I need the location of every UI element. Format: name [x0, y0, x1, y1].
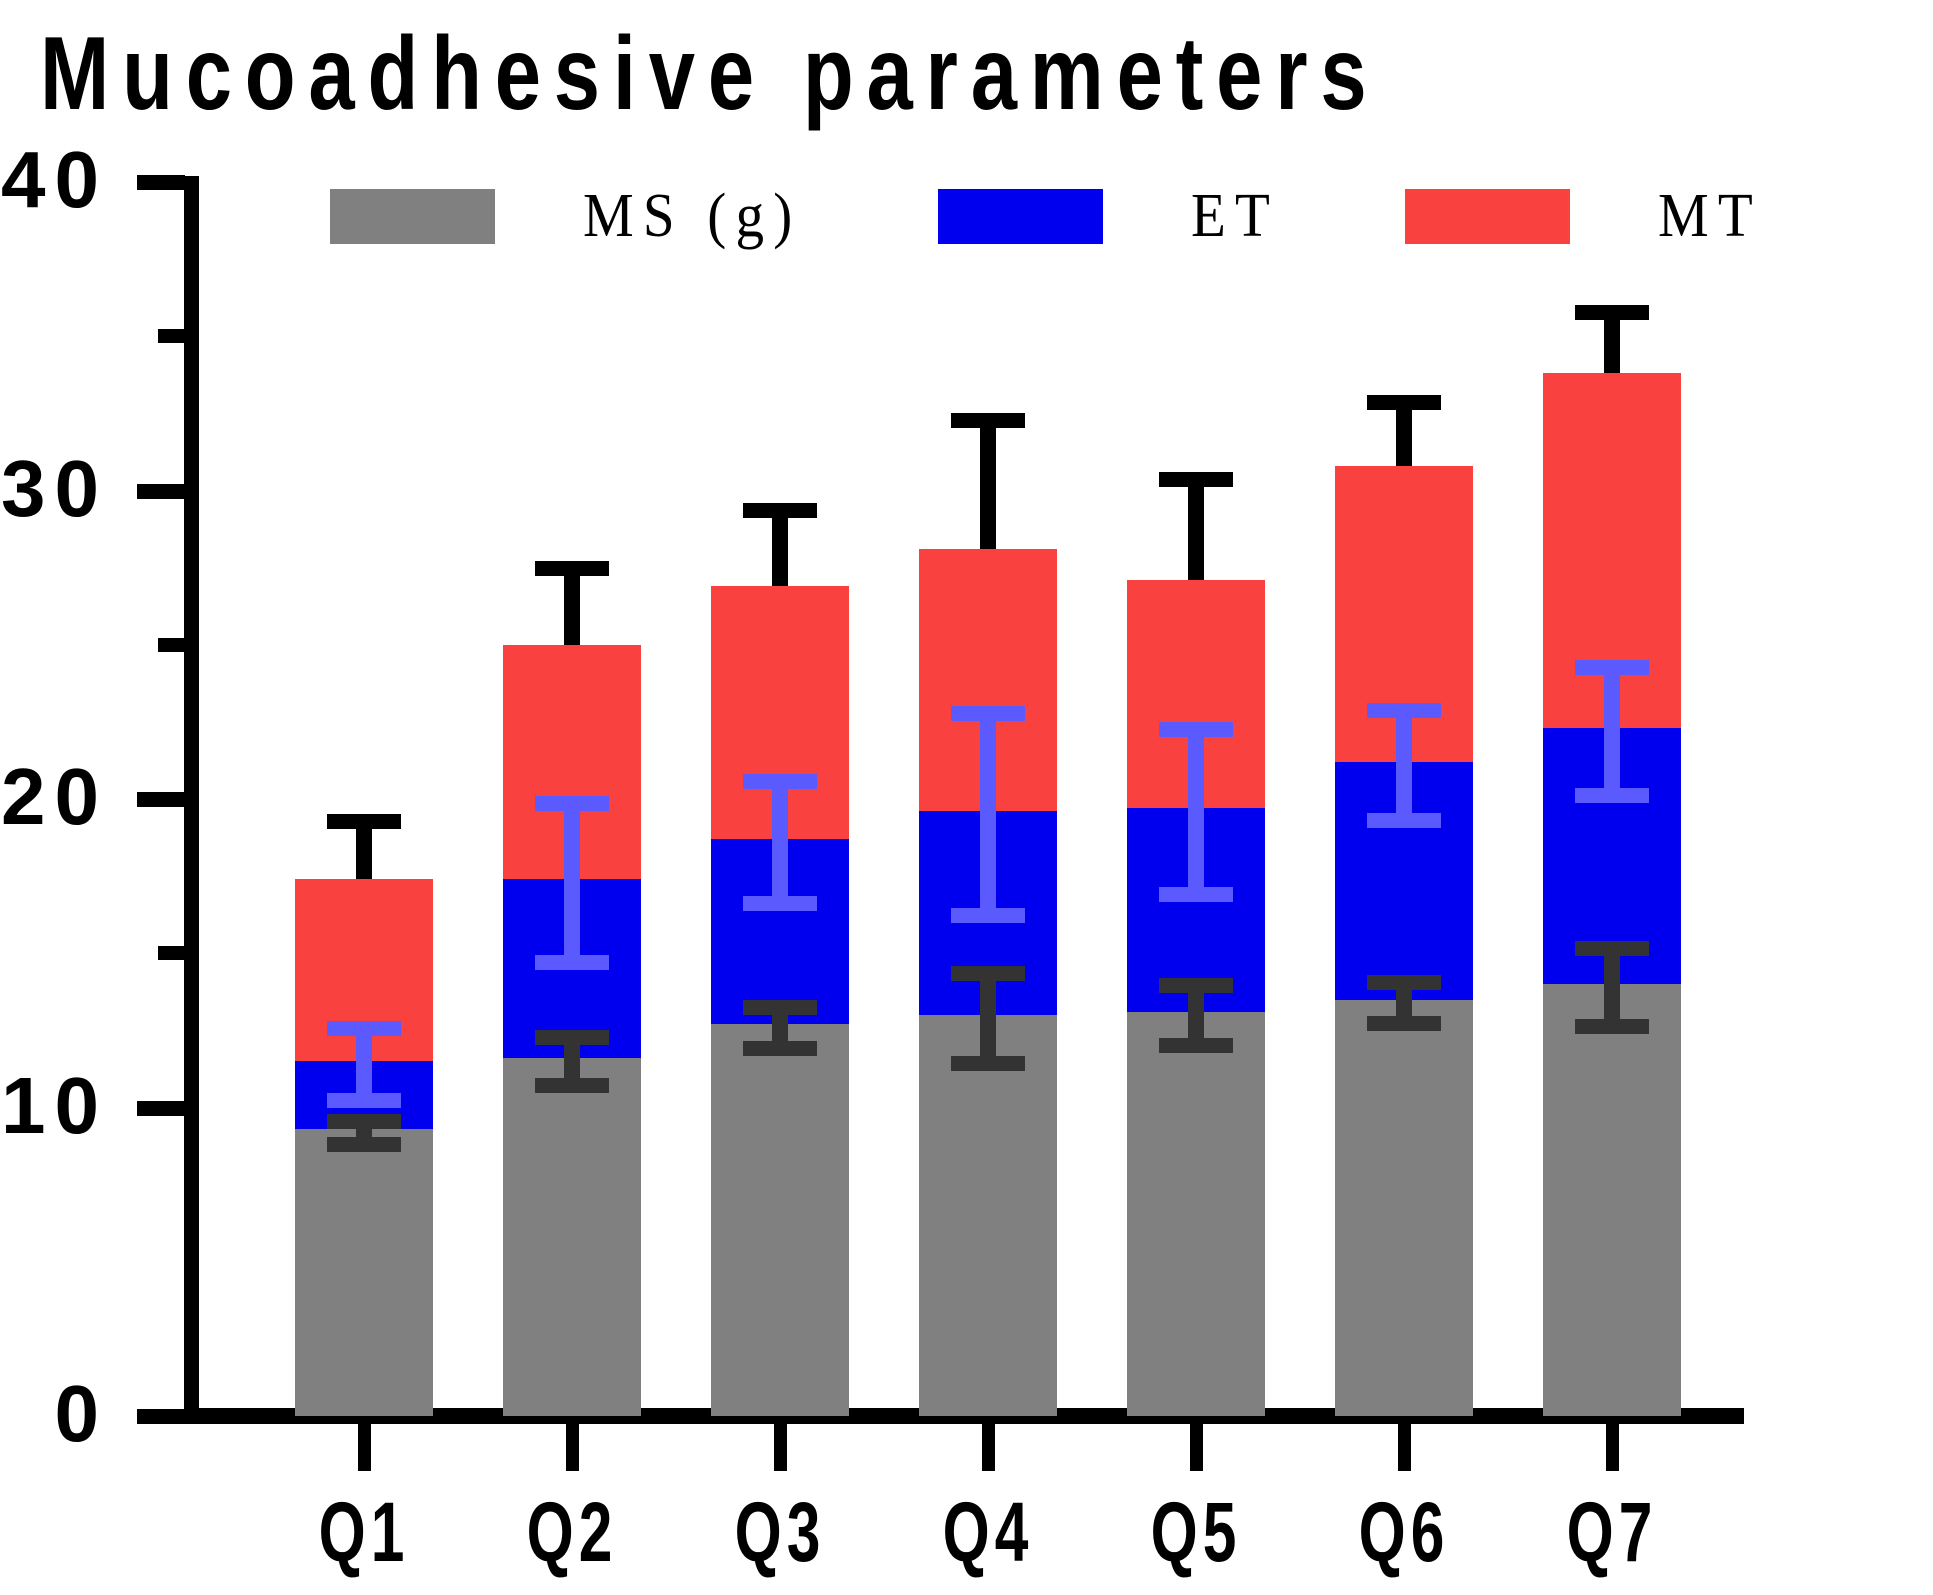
- error-bar-cap: [327, 1114, 401, 1129]
- error-bar-stem: [980, 413, 996, 549]
- error-bar-et: [711, 774, 849, 839]
- y-axis-tick-label: 20: [1, 757, 108, 837]
- error-bar-lower-stem: [1396, 1000, 1412, 1025]
- bar-segment-msg[interactable]: [1127, 1012, 1265, 1416]
- y-axis-major-tick: [137, 175, 185, 190]
- error-bar-cap: [535, 1030, 609, 1045]
- error-bar-cap: [743, 1000, 817, 1015]
- y-axis-tick-label: 40: [1, 140, 108, 220]
- error-bar-mt: [1335, 395, 1473, 466]
- y-axis-major-tick: [137, 1409, 185, 1424]
- error-bar-msg: [1335, 975, 1473, 1000]
- error-bar-cap: [535, 561, 609, 576]
- error-bar-lower-stem: [980, 811, 996, 916]
- error-bar-mt: [711, 503, 849, 586]
- error-bar-lower-stem: [1188, 1012, 1204, 1046]
- bar-group-q1[interactable]: [295, 0, 433, 1595]
- error-bar-lower-stem: [1188, 808, 1204, 894]
- error-bar-msg: [503, 1030, 641, 1058]
- error-bar-msg: [295, 1114, 433, 1129]
- error-bar-lower-stem: [356, 1061, 372, 1101]
- error-bar-cap: [951, 966, 1025, 981]
- error-bar-cap: [1575, 941, 1649, 956]
- error-bar-et: [1543, 660, 1681, 728]
- y-axis-minor-tick: [158, 329, 185, 343]
- bar-segment-msg[interactable]: [711, 1024, 849, 1416]
- error-bar-cap: [1367, 975, 1441, 990]
- error-bar-lower-stem: [1604, 984, 1620, 1027]
- error-bar-lower-stem: [1604, 728, 1620, 796]
- error-bar-lower-stem: [772, 1024, 788, 1049]
- error-bar-mt: [1127, 472, 1265, 580]
- error-bar-lower-stem: [980, 1015, 996, 1064]
- error-bar-cap: [1367, 703, 1441, 718]
- chart-root: Mucoadhesive parameters MS (g)ETMT 40302…: [0, 0, 1933, 1595]
- error-bar-cap: [535, 796, 609, 811]
- y-axis-tick-label: 0: [55, 1374, 109, 1454]
- error-bar-cap: [327, 814, 401, 829]
- bar-segment-msg[interactable]: [919, 1015, 1057, 1416]
- error-bar-msg: [1543, 941, 1681, 984]
- y-axis-minor-tick: [158, 946, 185, 960]
- y-axis-minor-tick: [158, 638, 185, 652]
- error-bar-msg: [711, 1000, 849, 1025]
- y-axis-major-tick: [137, 792, 185, 807]
- error-bar-lower-stem: [564, 879, 580, 962]
- bar-segment-msg[interactable]: [1543, 984, 1681, 1416]
- plot-area: 403020100 Q1Q2Q3Q4Q5Q6Q7: [0, 0, 1933, 1595]
- error-bar-cap: [1159, 472, 1233, 487]
- error-bar-cap: [1575, 660, 1649, 675]
- error-bar-et: [1127, 722, 1265, 808]
- error-bar-lower-stem: [356, 1129, 372, 1144]
- bar-group-q3[interactable]: [711, 0, 849, 1595]
- error-bar-stem: [1188, 472, 1204, 580]
- error-bar-cap: [327, 1021, 401, 1036]
- error-bar-cap: [951, 706, 1025, 721]
- error-bar-cap: [951, 413, 1025, 428]
- bar-segment-msg[interactable]: [503, 1058, 641, 1416]
- bar-group-q2[interactable]: [503, 0, 641, 1595]
- error-bar-lower-stem: [1396, 762, 1412, 821]
- error-bar-et: [1335, 703, 1473, 762]
- error-bar-et: [919, 706, 1057, 811]
- error-bar-cap: [743, 774, 817, 789]
- error-bar-et: [295, 1021, 433, 1061]
- error-bar-cap: [1367, 395, 1441, 410]
- error-bar-cap: [743, 503, 817, 518]
- error-bar-mt: [1543, 305, 1681, 373]
- error-bar-lower-stem: [564, 1058, 580, 1086]
- bar-group-q5[interactable]: [1127, 0, 1265, 1595]
- y-axis-major-tick: [137, 484, 185, 499]
- y-axis-tick-label: 10: [1, 1066, 108, 1146]
- y-axis-tick-label: 30: [1, 449, 108, 529]
- error-bar-msg: [919, 966, 1057, 1015]
- bar-segment-msg[interactable]: [1335, 1000, 1473, 1416]
- error-bar-mt: [295, 814, 433, 879]
- bar-group-q6[interactable]: [1335, 0, 1473, 1595]
- error-bar-lower-stem: [772, 839, 788, 904]
- error-bar-cap: [1159, 978, 1233, 993]
- error-bar-stem: [980, 706, 996, 811]
- bar-group-q7[interactable]: [1543, 0, 1681, 1595]
- y-axis-major-tick: [137, 1101, 185, 1116]
- error-bar-msg: [1127, 978, 1265, 1012]
- error-bar-et: [503, 796, 641, 879]
- error-bar-mt: [919, 413, 1057, 549]
- y-axis-line: [184, 176, 199, 1423]
- bar-group-q4[interactable]: [919, 0, 1057, 1595]
- error-bar-cap: [1575, 305, 1649, 320]
- error-bar-cap: [1159, 722, 1233, 737]
- bar-segment-msg[interactable]: [295, 1129, 433, 1416]
- error-bar-mt: [503, 561, 641, 644]
